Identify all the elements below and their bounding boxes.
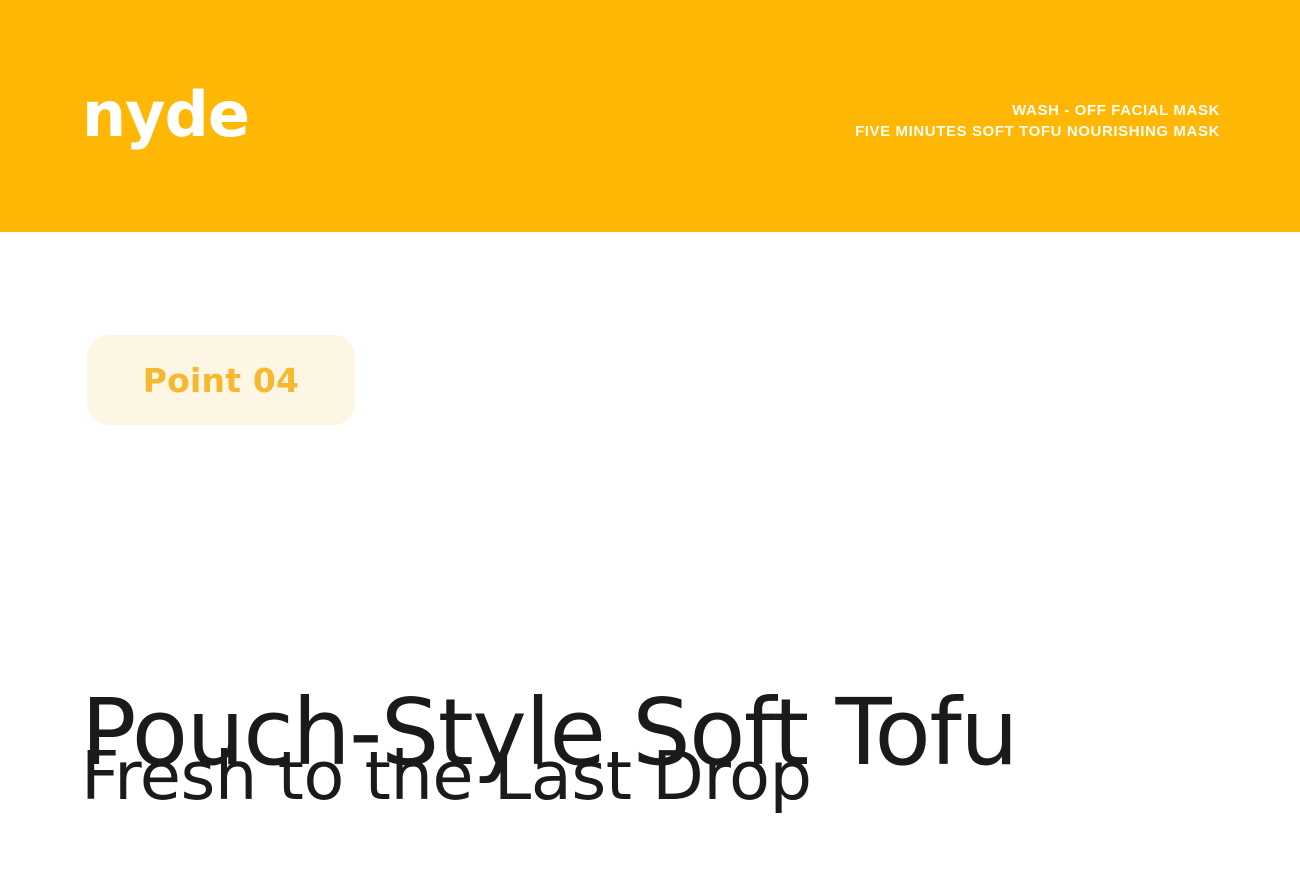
brand-logo: nyde (82, 84, 249, 146)
product-category-block: WASH - OFF FACIAL MASK FIVE MINUTES SOFT… (855, 100, 1220, 142)
product-detail-page: nyde WASH - OFF FACIAL MASK FIVE MINUTES… (0, 0, 1300, 884)
product-category-line-1: WASH - OFF FACIAL MASK (855, 100, 1220, 121)
point-badge-label: Point 04 (143, 364, 299, 397)
product-category-line-2: FIVE MINUTES SOFT TOFU NOURISHING MASK (855, 121, 1220, 142)
point-badge: Point 04 (87, 335, 355, 425)
content-area: Point 04 Fresh to the Last Drop Pouch-St… (0, 232, 1300, 884)
section-heading: Pouch-Style Soft Tofu (81, 687, 1017, 779)
header-band: nyde WASH - OFF FACIAL MASK FIVE MINUTES… (0, 0, 1300, 232)
